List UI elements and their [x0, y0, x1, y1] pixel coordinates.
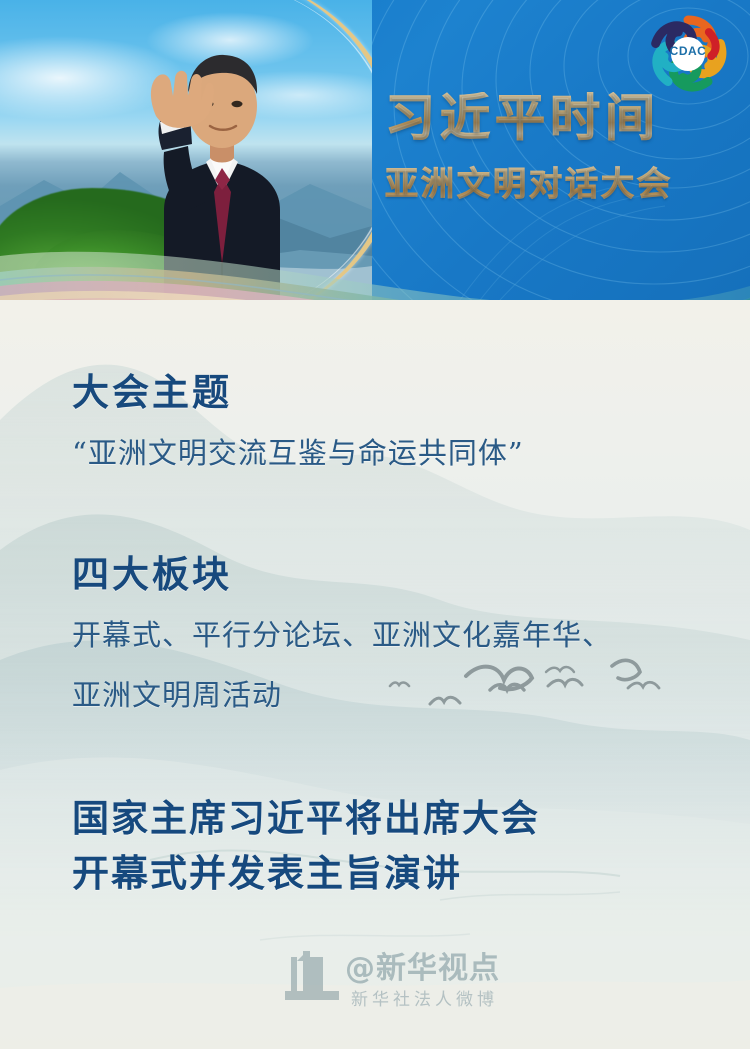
- page-title: 习近平时间: [385, 92, 735, 145]
- key-statement-line-2: 开幕式并发表主旨演讲: [72, 847, 540, 902]
- page-subtitle: 亚洲文明对话大会: [385, 157, 735, 205]
- section-pillars-heading: 四大板块: [72, 544, 612, 598]
- key-statement-line-1: 国家主席习近平将出席大会: [72, 792, 540, 847]
- xinhua-logo-mark-icon: [283, 947, 343, 1007]
- section-pillars: 四大板块 开幕式、平行分论坛、亚洲文化嘉年华、 亚洲文明周活动: [72, 544, 612, 719]
- title-block: 习近平时间 亚洲文明对话大会: [385, 92, 735, 205]
- watermark-handle: @新华视点: [345, 943, 500, 987]
- content-area: 大会主题 “亚洲文明交流互鉴与命运共同体” 四大板块 开幕式、平行分论坛、亚洲文…: [0, 300, 750, 1049]
- xinhua-watermark: @新华视点 新华社法人微博: [283, 941, 513, 1023]
- cdac-logo-text: CDAC: [645, 44, 731, 58]
- watermark-subtitle: 新华社法人微博: [351, 985, 498, 1010]
- section-pillars-line-1: 开幕式、平行分论坛、亚洲文化嘉年华、: [72, 612, 612, 658]
- poster: 习近平时间 亚洲文明对话大会: [0, 0, 750, 1049]
- key-statement: 国家主席习近平将出席大会 开幕式并发表主旨演讲: [72, 792, 540, 902]
- section-pillars-line-2: 亚洲文明周活动: [72, 672, 612, 718]
- section-theme-line-1: “亚洲文明交流互鉴与命运共同体”: [72, 430, 524, 476]
- section-theme-heading: 大会主题: [72, 362, 524, 416]
- section-theme: 大会主题 “亚洲文明交流互鉴与命运共同体”: [72, 362, 524, 476]
